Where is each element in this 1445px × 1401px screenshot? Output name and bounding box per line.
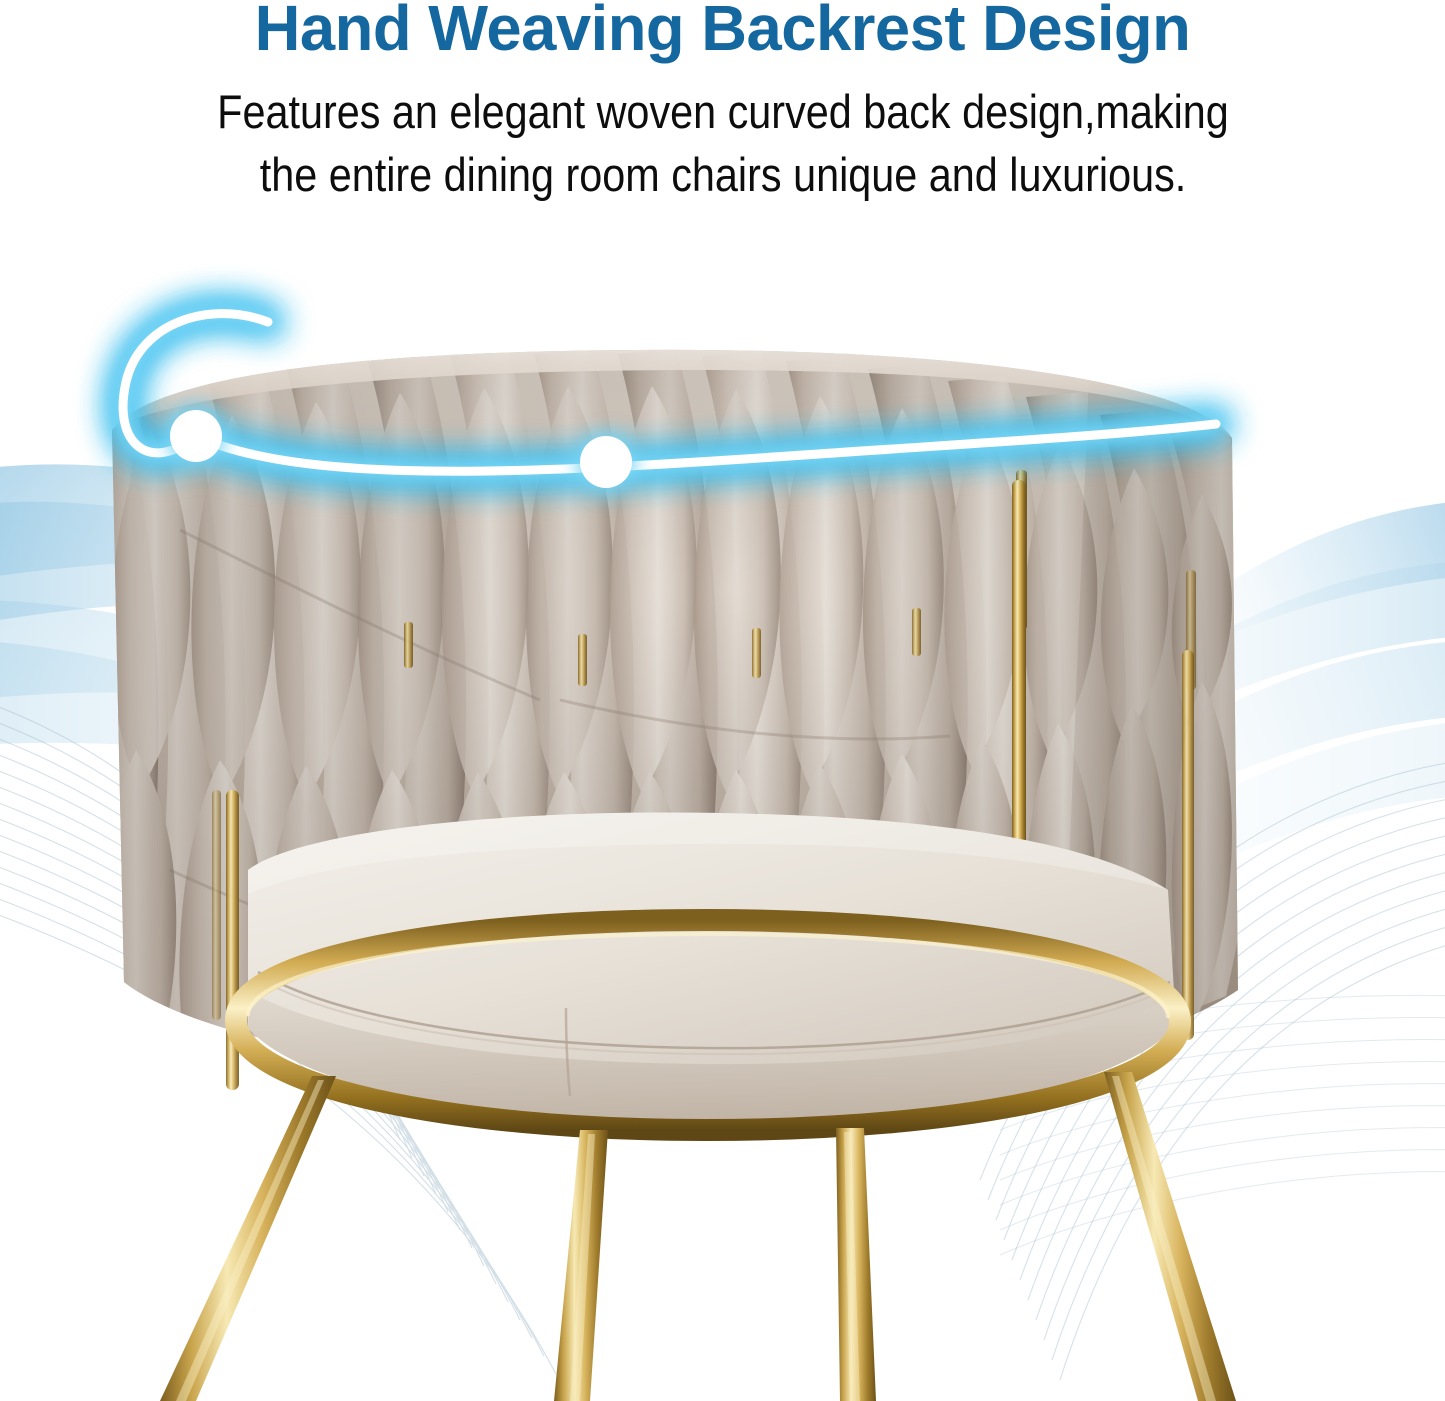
page-subtitle-line-1: Features an elegant woven curved back de…	[164, 80, 1282, 143]
page-subtitle: Features an elegant woven curved back de…	[164, 80, 1282, 206]
chair-seat	[248, 812, 1176, 1124]
page-subtitle-line-2: the entire dining room chairs unique and…	[164, 143, 1282, 206]
page-title: Hand Weaving Backrest Design	[7, 0, 1438, 64]
product-image-chair	[0, 230, 1445, 1401]
header-text-block: Hand Weaving Backrest Design Features an…	[0, 0, 1445, 206]
